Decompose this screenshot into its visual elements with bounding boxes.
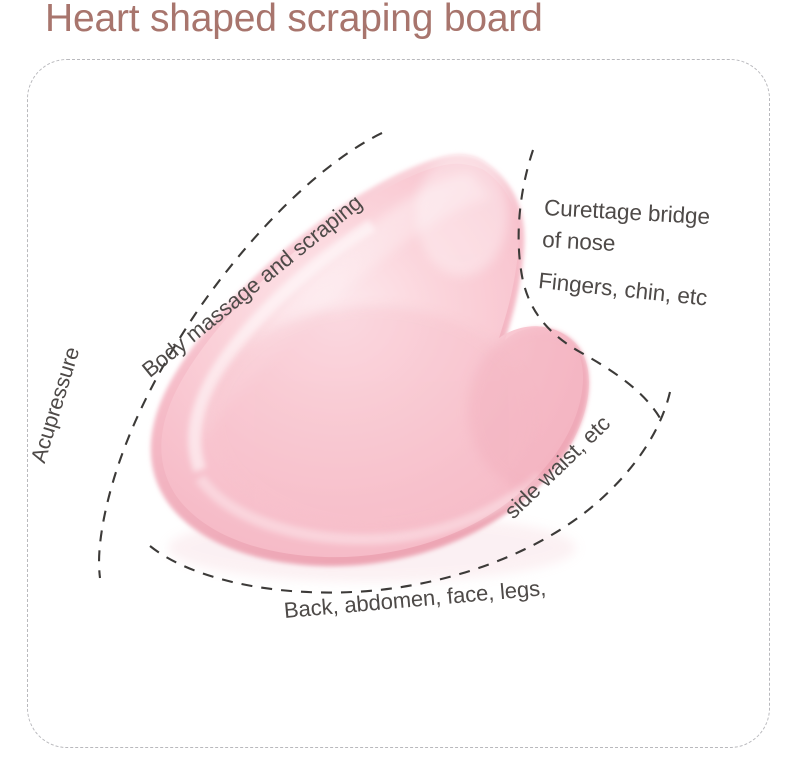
gua-sha-illustration [0, 0, 790, 771]
stone-specular-top [416, 152, 508, 276]
callout-label-curettage: Curettage bridge of nose [541, 192, 710, 264]
product-infographic: Heart shaped scraping board [0, 0, 790, 771]
curettage-line-1: Curettage bridge [543, 195, 710, 229]
